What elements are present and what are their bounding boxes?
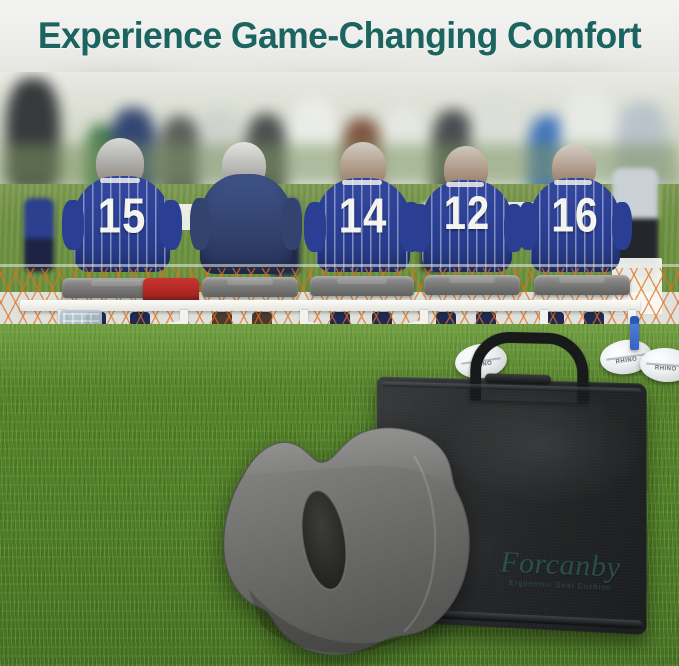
- net-rail: [0, 264, 679, 267]
- sleeve-right: [612, 202, 632, 250]
- jersey-number: 16: [530, 188, 620, 243]
- collar: [342, 180, 382, 185]
- sleeve-left: [410, 204, 430, 252]
- collar: [446, 182, 484, 187]
- bench-cushion-2: [202, 277, 298, 297]
- sleeve-right: [160, 200, 182, 250]
- cushion-shape: [218, 412, 483, 662]
- standing-figure-left: [24, 198, 54, 272]
- bench-cushion-4: [424, 275, 520, 295]
- collar: [100, 178, 140, 183]
- blue-water-bottle: [630, 316, 639, 350]
- page-title: Experience Game-Changing Comfort: [14, 12, 666, 60]
- jersey-number: 15: [74, 188, 170, 245]
- collar: [554, 180, 592, 185]
- sleeve-left: [62, 200, 84, 250]
- hoodie: [200, 174, 292, 274]
- jersey-number: 12: [422, 188, 512, 241]
- jersey-number: 14: [316, 188, 410, 245]
- sleeve-left: [304, 202, 326, 252]
- jersey: 14: [316, 178, 410, 272]
- ball-brand-label: RHINO: [640, 364, 679, 374]
- jersey: 15: [74, 176, 170, 272]
- jersey: 12: [422, 180, 512, 272]
- product-seat-cushion: [218, 412, 483, 662]
- product-marketing-image: Experience Game-Changing Comfort: [0, 0, 679, 666]
- sleeve-right: [282, 198, 302, 250]
- bench-cushion-3: [310, 276, 414, 296]
- sleeve-left: [190, 198, 210, 250]
- bench-cushion-5: [534, 275, 630, 295]
- jersey: 16: [530, 178, 620, 272]
- sleeve-left: [518, 202, 538, 250]
- scene-photo: 15 14: [0, 72, 679, 666]
